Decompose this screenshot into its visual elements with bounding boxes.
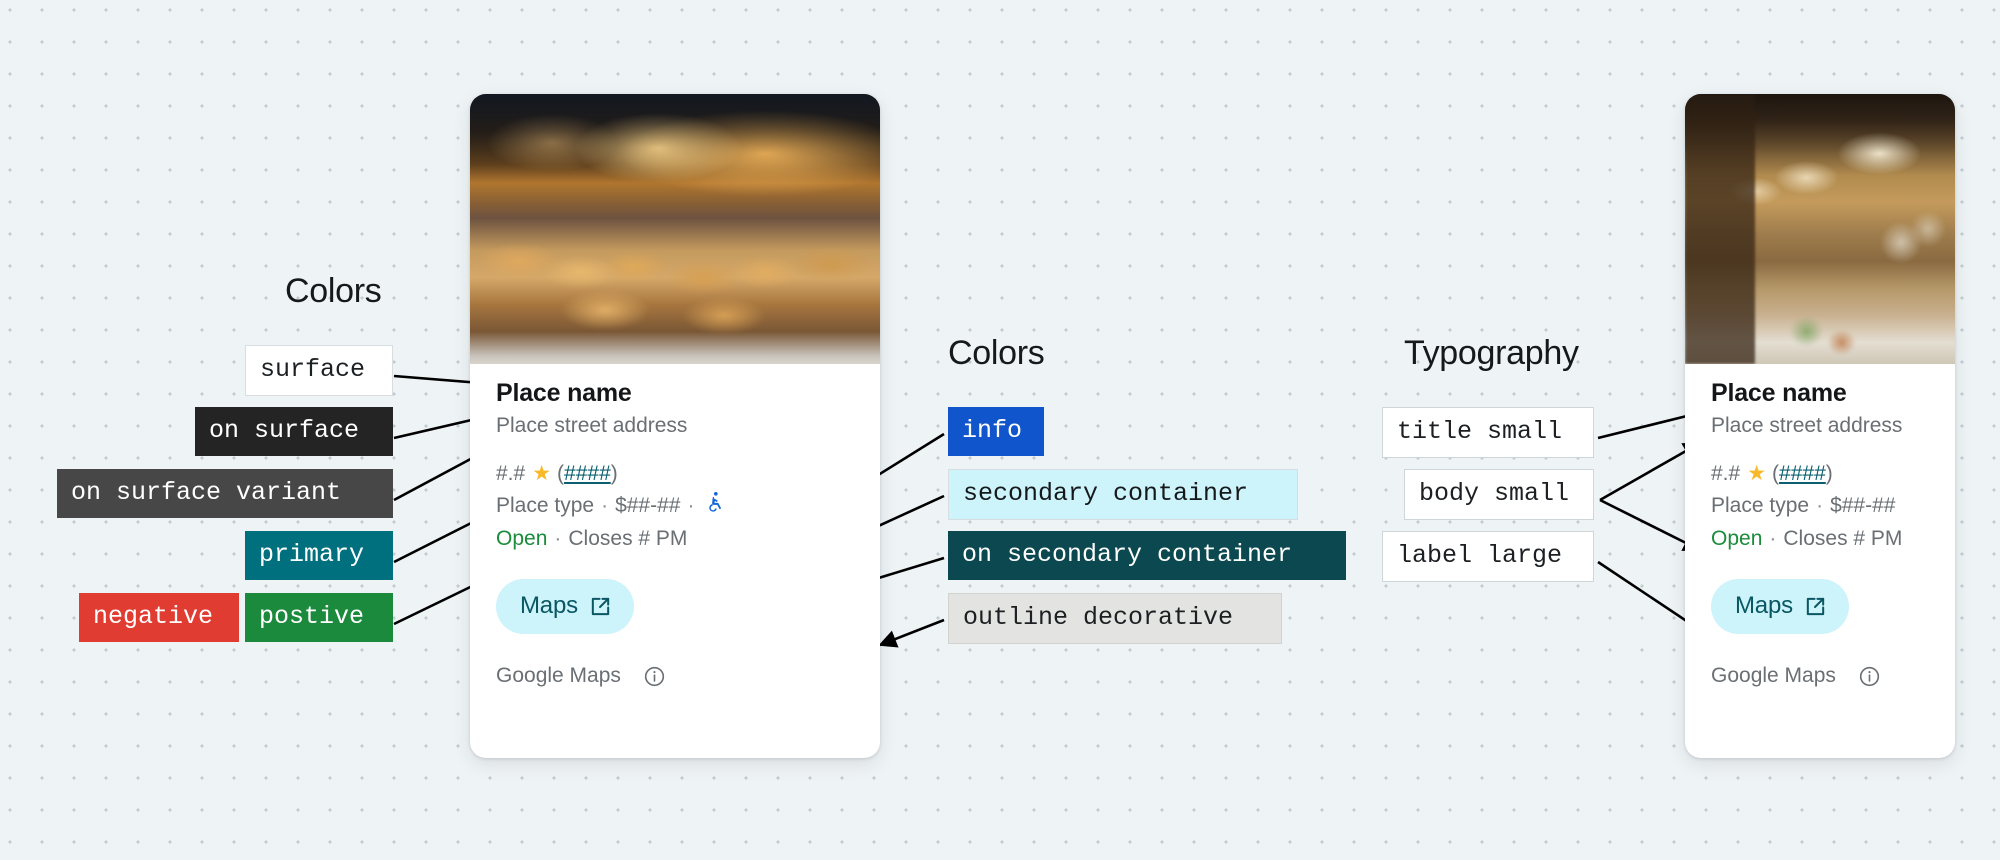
maps-button-label: Maps	[1735, 592, 1793, 620]
place-type: Place type	[1711, 490, 1809, 523]
type-chip-title-small[interactable]: title small	[1382, 407, 1594, 458]
price-range: $##-##	[1830, 490, 1895, 523]
section-title-colors-mid: Colors	[948, 334, 1044, 373]
rating-value: #.#	[496, 458, 525, 491]
color-chip-label: on surface	[209, 418, 359, 443]
place-address: Place street address	[496, 411, 854, 441]
color-chip-label: primary	[259, 542, 364, 567]
annotation-canvas: Colors Colors Typography surface on surf…	[0, 0, 2000, 860]
color-chip-label: on secondary container	[962, 542, 1292, 567]
place-address: Place street address	[1711, 411, 1929, 441]
place-type-line: Place type · $##-##	[1711, 490, 1929, 523]
review-count-close-paren: )	[1826, 458, 1833, 491]
review-count-open-paren: (	[557, 458, 564, 491]
color-chip-info[interactable]: info	[948, 407, 1044, 456]
type-chip-label: title small	[1397, 419, 1562, 444]
color-chip-label: surface	[260, 357, 365, 382]
color-chip-outline-decorative[interactable]: outline decorative	[948, 593, 1282, 644]
separator-dot: ·	[554, 523, 561, 556]
separator-dot: ·	[1816, 490, 1823, 523]
footer-label: Google Maps	[1711, 664, 1836, 688]
color-chip-on-secondary-container[interactable]: on secondary container	[948, 531, 1346, 580]
maps-button[interactable]: Maps	[496, 579, 634, 634]
separator-dot: ·	[601, 490, 608, 523]
type-chip-body-small[interactable]: body small	[1404, 469, 1594, 520]
price-range: $##-##	[615, 490, 680, 523]
color-chip-on-surface[interactable]: on surface	[195, 407, 393, 456]
color-chip-primary[interactable]: primary	[245, 531, 393, 580]
color-chip-label: secondary container	[963, 481, 1248, 506]
review-count-open-paren: (	[1772, 458, 1779, 491]
card-footer: Google Maps	[496, 664, 854, 688]
place-type-line: Place type · $##-## ·	[496, 490, 854, 523]
separator-dot: ·	[1769, 523, 1776, 556]
separator-dot: ·	[687, 490, 694, 523]
place-rating-line: #.# ★ ( #### )	[496, 458, 854, 491]
place-rating-line: #.# ★ ( #### )	[1711, 458, 1929, 491]
color-chip-postive[interactable]: postive	[245, 593, 393, 642]
color-chip-on-surface-variant[interactable]: on surface variant	[57, 469, 393, 518]
color-chip-secondary-container[interactable]: secondary container	[948, 469, 1298, 520]
color-chip-label: info	[962, 418, 1022, 443]
place-card-body: Place name Place street address #.# ★ ( …	[1685, 364, 1955, 710]
type-chip-label: body small	[1419, 481, 1569, 506]
review-count-link[interactable]: ####	[1779, 458, 1826, 491]
place-hours-line: Open · Closes # PM	[496, 523, 854, 556]
color-chip-label: outline decorative	[963, 605, 1233, 630]
open-status: Open	[1711, 523, 1762, 556]
place-photo-bakery	[470, 94, 880, 364]
info-circle-icon[interactable]	[643, 665, 666, 688]
info-circle-icon[interactable]	[1858, 665, 1881, 688]
star-icon: ★	[1747, 458, 1766, 491]
section-title-typography: Typography	[1404, 334, 1579, 373]
star-icon: ★	[532, 458, 551, 491]
place-name: Place name	[1711, 378, 1929, 409]
place-type: Place type	[496, 490, 594, 523]
place-card-right[interactable]: Place name Place street address #.# ★ ( …	[1685, 94, 1955, 758]
closing-time: Closes # PM	[1783, 523, 1902, 556]
maps-button-label: Maps	[520, 592, 578, 620]
place-hours-line: Open · Closes # PM	[1711, 523, 1929, 556]
type-chip-label-large[interactable]: label large	[1382, 531, 1594, 582]
card-footer: Google Maps	[1711, 664, 1929, 688]
arrow-outline-decorative-to-card-outline	[880, 620, 944, 645]
place-photo-cafe	[1685, 94, 1955, 364]
place-card-left[interactable]: Place name Place street address #.# ★ ( …	[470, 94, 880, 758]
place-card-body: Place name Place street address #.# ★ ( …	[470, 364, 880, 710]
color-chip-label: negative	[93, 604, 213, 629]
review-count-link[interactable]: ####	[564, 458, 611, 491]
color-chip-negative[interactable]: negative	[79, 593, 239, 642]
place-meta: #.# ★ ( #### ) Place type · $##-## Open …	[1711, 458, 1929, 556]
rating-value: #.#	[1711, 458, 1740, 491]
color-chip-label: postive	[259, 604, 364, 629]
footer-label: Google Maps	[496, 664, 621, 688]
maps-button[interactable]: Maps	[1711, 579, 1849, 634]
section-title-colors-left: Colors	[285, 272, 381, 311]
open-in-new-icon	[1804, 595, 1827, 618]
place-name: Place name	[496, 378, 854, 409]
color-chip-surface[interactable]: surface	[245, 345, 393, 396]
wheelchair-icon	[704, 490, 725, 523]
type-chip-label: label large	[1397, 543, 1562, 568]
place-meta: #.# ★ ( #### ) Place type · $##-## ·	[496, 458, 854, 556]
open-in-new-icon	[589, 595, 612, 618]
open-status: Open	[496, 523, 547, 556]
review-count-close-paren: )	[611, 458, 618, 491]
color-chip-label: on surface variant	[71, 480, 341, 505]
closing-time: Closes # PM	[568, 523, 687, 556]
